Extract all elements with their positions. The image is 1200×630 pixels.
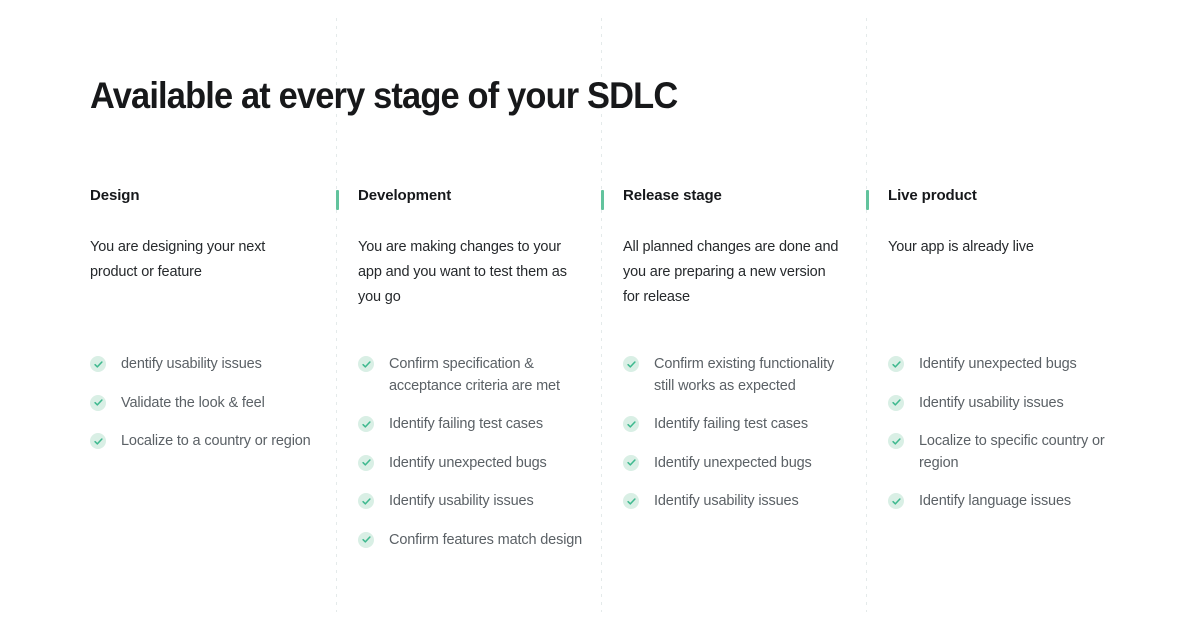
list-item: Identify failing test cases <box>623 414 848 436</box>
list-item: Identify unexpected bugs <box>623 453 848 475</box>
list-item: Validate the look & feel <box>90 393 311 415</box>
check-circle-icon <box>358 455 374 471</box>
accent-bar-icon <box>336 190 339 210</box>
list-item-label: Identify unexpected bugs <box>919 354 1077 376</box>
page-title: Available at every stage of your SDLC <box>90 74 677 118</box>
list-item-label: Validate the look & feel <box>121 393 265 415</box>
feature-list-live-product: Identify unexpected bugs Identify usabil… <box>888 354 1116 530</box>
accent-bar-icon <box>601 190 604 210</box>
check-circle-icon <box>90 395 106 411</box>
list-item: Localize to a country or region <box>90 431 311 453</box>
check-circle-icon <box>888 493 904 509</box>
check-circle-icon <box>358 356 374 372</box>
stage-heading-release: Release stage <box>623 186 866 206</box>
list-item-label: Identify failing test cases <box>654 414 808 436</box>
stage-description-development: You are making changes to your app and y… <box>358 235 582 310</box>
list-item-label: Identify unexpected bugs <box>389 453 547 475</box>
check-circle-icon <box>888 433 904 449</box>
stage-column-development: Development You are making changes to yo… <box>336 186 601 310</box>
check-circle-icon <box>358 493 374 509</box>
accent-bar-icon <box>866 190 869 210</box>
stage-heading-live-product: Live product <box>888 186 1131 206</box>
list-item-label: Identify usability issues <box>919 393 1064 415</box>
list-item: Identify usability issues <box>888 393 1116 415</box>
stage-column-design: Design You are designing your next produ… <box>90 186 336 310</box>
sdlc-stages-infographic: Available at every stage of your SDLC De… <box>0 0 1200 630</box>
check-circle-icon <box>888 356 904 372</box>
list-item: Identify language issues <box>888 491 1116 513</box>
stage-description-design: You are designing your next product or f… <box>90 235 306 285</box>
stage-description-live-product: Your app is already live <box>888 235 1114 260</box>
stage-columns: Design You are designing your next produ… <box>0 186 1200 310</box>
list-item: Confirm specification & acceptance crite… <box>358 354 583 397</box>
stage-heading-design: Design <box>90 186 336 206</box>
list-item-label: Identify usability issues <box>654 491 799 513</box>
feature-list-development: Confirm specification & acceptance crite… <box>358 354 583 568</box>
check-circle-icon <box>623 493 639 509</box>
list-item: Confirm existing functionality still wor… <box>623 354 848 397</box>
list-item: Confirm features match design <box>358 530 583 552</box>
list-item: Identify usability issues <box>358 491 583 513</box>
list-item-label: Localize to specific country or region <box>919 431 1116 474</box>
stage-column-release: Release stage All planned changes are do… <box>601 186 866 310</box>
list-item: Identify unexpected bugs <box>358 453 583 475</box>
list-item-label: Confirm specification & acceptance crite… <box>389 354 583 397</box>
list-item: Localize to specific country or region <box>888 431 1116 474</box>
list-item-label: dentify usability issues <box>121 354 262 376</box>
list-item-label: Localize to a country or region <box>121 431 311 453</box>
check-circle-icon <box>623 416 639 432</box>
check-circle-icon <box>358 532 374 548</box>
feature-list-release: Confirm existing functionality still wor… <box>623 354 848 530</box>
check-circle-icon <box>623 356 639 372</box>
stage-column-live-product: Live product Your app is already live Id… <box>866 186 1131 310</box>
list-item-label: Identify failing test cases <box>389 414 543 436</box>
check-circle-icon <box>888 395 904 411</box>
feature-list-design: dentify usability issues Validate the lo… <box>90 354 311 470</box>
list-item: Identify usability issues <box>623 491 848 513</box>
stage-description-release: All planned changes are done and you are… <box>623 235 841 310</box>
check-circle-icon <box>90 356 106 372</box>
check-circle-icon <box>623 455 639 471</box>
column-divider-3 <box>866 18 867 612</box>
list-item-label: Identify language issues <box>919 491 1071 513</box>
list-item-label: Confirm existing functionality still wor… <box>654 354 848 397</box>
list-item: Identify unexpected bugs <box>888 354 1116 376</box>
list-item: dentify usability issues <box>90 354 311 376</box>
list-item: Identify failing test cases <box>358 414 583 436</box>
check-circle-icon <box>358 416 374 432</box>
list-item-label: Identify usability issues <box>389 491 534 513</box>
list-item-label: Identify unexpected bugs <box>654 453 812 475</box>
check-circle-icon <box>90 433 106 449</box>
stage-heading-development: Development <box>358 186 601 206</box>
list-item-label: Confirm features match design <box>389 530 582 552</box>
